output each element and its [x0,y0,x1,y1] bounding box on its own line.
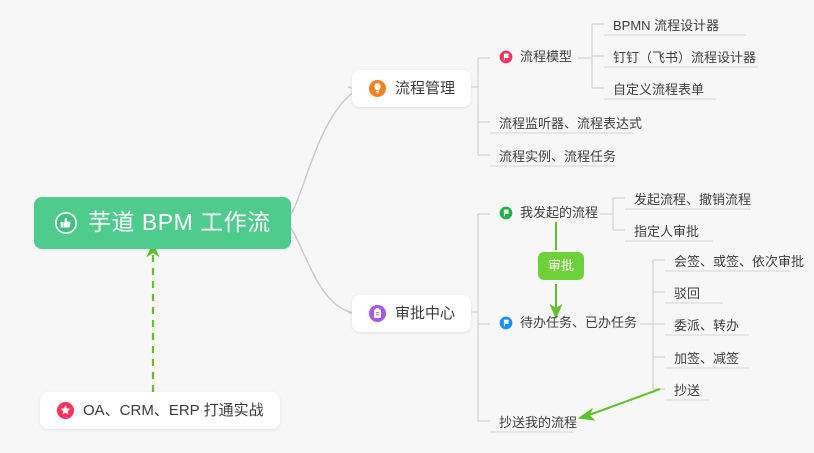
node-process-model[interactable]: 流程模型 [491,44,580,71]
branch-process-management-label: 流程管理 [395,80,455,98]
node-cc-to-me[interactable]: 抄送我的流程 [491,410,585,437]
node-custom-form[interactable]: 自定义流程表单 [605,77,712,104]
node-start-cancel-process[interactable]: 发起流程、撤销流程 [626,187,759,214]
node-add-remove-sign[interactable]: 加签、减签 [666,346,747,373]
node-start-cancel-process-label: 发起流程、撤销流程 [634,192,751,208]
branch-approval-center-label: 审批中心 [395,305,455,323]
node-countersign[interactable]: 会签、或签、依次审批 [666,249,812,276]
node-add-remove-sign-label: 加签、减签 [674,351,739,367]
node-process-instance[interactable]: 流程实例、流程任务 [491,144,624,171]
node-countersign-label: 会签、或签、依次审批 [674,254,804,270]
lightbulb-pin-icon [368,79,387,98]
node-bpmn-designer[interactable]: BPMN 流程设计器 [605,13,727,40]
node-process-instance-label: 流程实例、流程任务 [499,149,616,165]
node-cc-label: 抄送 [674,383,700,399]
node-custom-form-label: 自定义流程表单 [613,82,704,98]
node-process-listener[interactable]: 流程监听器、流程表达式 [491,111,650,138]
branch-approval-center[interactable]: 审批中心 [352,295,471,332]
node-reject[interactable]: 驳回 [666,281,708,308]
arrow-cc-to-ccmine [589,389,660,415]
node-bpmn-designer-label: BPMN 流程设计器 [613,18,719,34]
node-process-model-label: 流程模型 [520,49,572,65]
node-my-initiated-label: 我发起的流程 [520,205,598,221]
node-assignee-approval[interactable]: 指定人审批 [626,219,707,246]
node-process-listener-label: 流程监听器、流程表达式 [499,116,642,132]
node-delegate-transfer[interactable]: 委派、转办 [666,313,747,340]
flag-green-icon [499,206,513,220]
node-todo-tasks-label: 待办任务、已办任务 [520,315,637,331]
badge-approval[interactable]: 审批 [538,252,584,280]
edge-root-to-approval-center [282,222,353,313]
flag-blue-icon [499,316,513,330]
node-delegate-transfer-label: 委派、转办 [674,318,739,334]
floating-node-label: OA、CRM、ERP 打通实战 [83,402,264,420]
node-my-initiated[interactable]: 我发起的流程 [491,200,606,227]
star-icon [56,401,75,420]
node-cc[interactable]: 抄送 [666,378,708,405]
root-label: 芋道 BPM 工作流 [88,209,271,237]
edge-root-to-process-management [282,87,353,222]
thumbs-up-icon [54,211,78,235]
node-assignee-approval-label: 指定人审批 [634,224,699,240]
badge-approval-label: 审批 [548,258,574,274]
branch-process-management[interactable]: 流程管理 [352,70,471,107]
node-reject-label: 驳回 [674,286,700,302]
node-dingtalk-designer[interactable]: 钉钉（飞书）流程设计器 [605,45,764,72]
clipboard-purple-icon [368,304,387,323]
node-todo-tasks[interactable]: 待办任务、已办任务 [491,310,645,337]
floating-node-integration[interactable]: OA、CRM、ERP 打通实战 [40,392,280,429]
mindmap-canvas: 芋道 BPM 工作流 OA、CRM、ERP 打通实战 流程管理 [0,0,814,453]
flag-red-icon [499,50,513,64]
node-cc-to-me-label: 抄送我的流程 [499,415,577,431]
root-node[interactable]: 芋道 BPM 工作流 [34,197,291,249]
node-dingtalk-designer-label: 钉钉（飞书）流程设计器 [613,50,756,66]
